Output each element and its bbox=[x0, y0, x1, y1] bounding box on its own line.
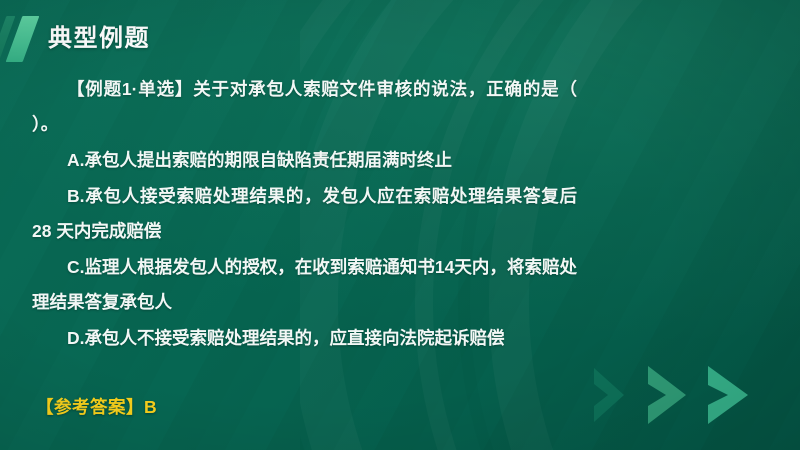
question-stem: 【例题1·单选】关于对承包人索赔文件审核的说法，正确的是（ ）。 bbox=[32, 72, 577, 142]
question-stem-text: 【例题1·单选】关于对承包人索赔文件审核的说法，正确的是（ ）。 bbox=[32, 79, 577, 134]
option-a: A.承包人提出索赔的期限自缺陷责任期届满时终止 bbox=[32, 143, 577, 178]
option-b: B.承包人接受索赔处理结果的，发包人应在索赔处理结果答复后 28 天内完成赔偿 bbox=[32, 179, 577, 249]
question-block: 【例题1·单选】关于对承包人索赔文件审核的说法，正确的是（ ）。 A.承包人提出… bbox=[32, 72, 577, 357]
slide-header: 典型例题 bbox=[0, 16, 150, 62]
option-d: D.承包人不接受索赔处理结果的，应直接向法院起诉赔偿 bbox=[32, 321, 577, 356]
accent-bars-icon bbox=[0, 16, 44, 62]
page-title: 典型例题 bbox=[48, 16, 150, 62]
option-c: C.监理人根据发包人的授权，在收到索赔通知书14天内，将索赔处理结果答复承包人 bbox=[32, 250, 577, 320]
slide-root: 典型例题 【例题1·单选】关于对承包人索赔文件审核的说法，正确的是（ ）。 A.… bbox=[0, 0, 800, 450]
reference-answer: 【参考答案】B bbox=[36, 394, 157, 419]
chevron-2-icon bbox=[648, 366, 686, 424]
chevron-1-icon bbox=[594, 368, 624, 422]
chevron-arrows-decoration bbox=[590, 362, 782, 428]
chevron-3-icon bbox=[708, 366, 748, 424]
